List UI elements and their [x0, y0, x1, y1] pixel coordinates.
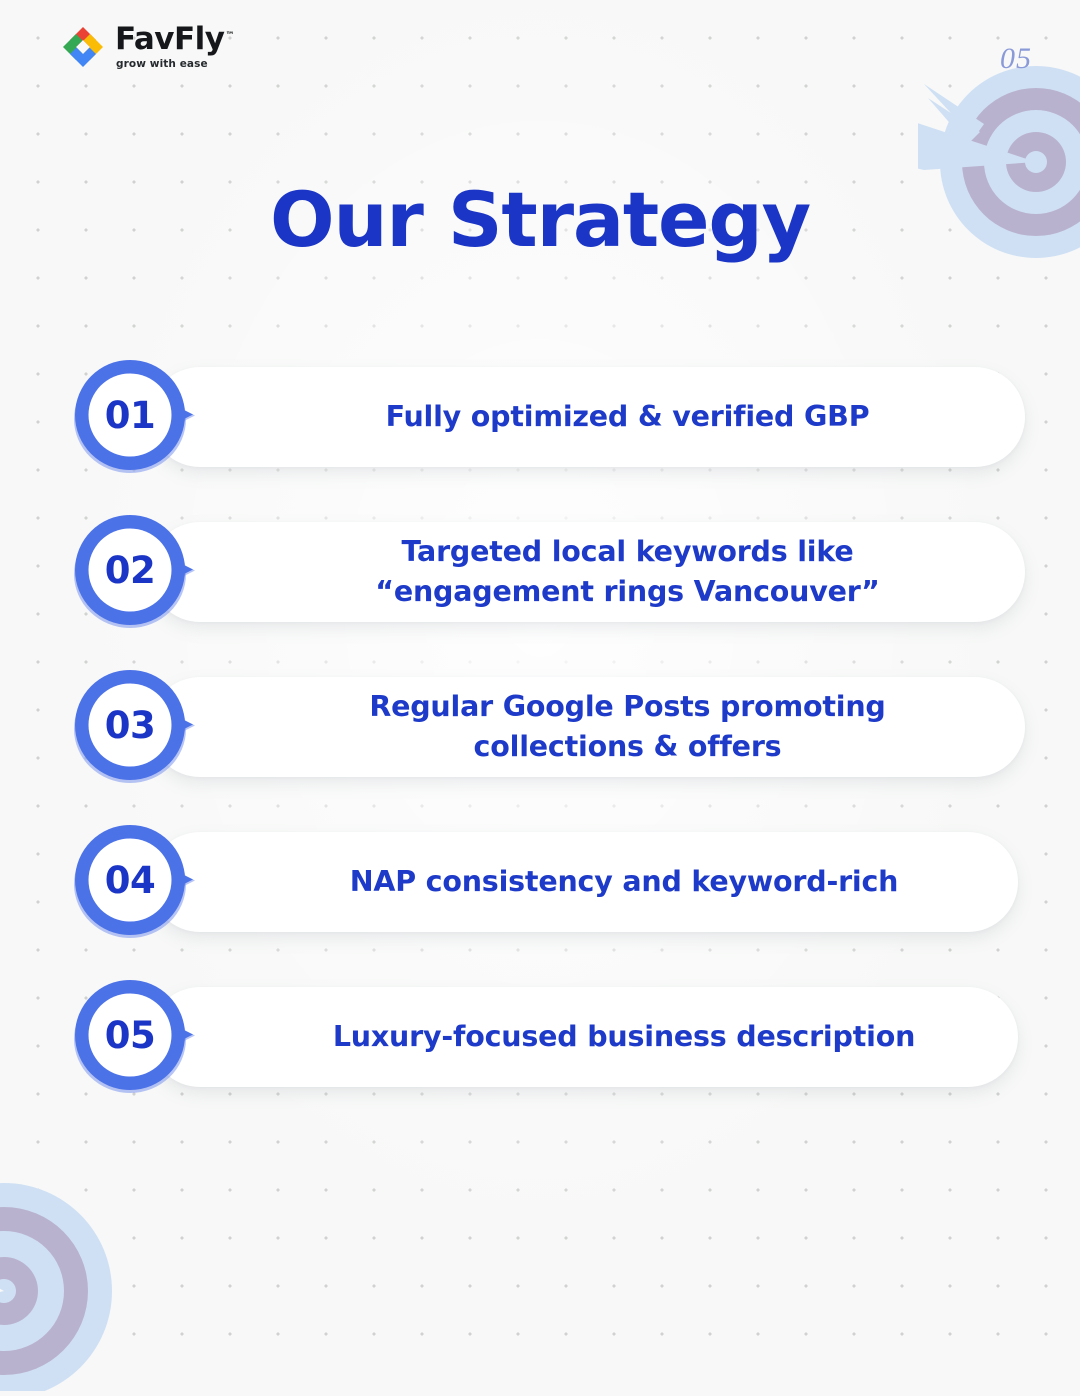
trademark-symbol: ™	[226, 31, 235, 41]
list-item[interactable]: Luxury-focused business description 05	[0, 977, 1080, 1093]
strategy-card-text: Regular Google Posts promoting collectio…	[369, 687, 885, 768]
brand-name-text: FavFly	[115, 21, 225, 57]
step-badge[interactable]: 05	[72, 977, 195, 1093]
step-badge[interactable]: 03	[72, 667, 195, 783]
strategy-card[interactable]: Luxury-focused business description	[150, 987, 1018, 1087]
strategy-card-text: Luxury-focused business description	[333, 1017, 915, 1057]
brand-logo[interactable]: FavFly™ grow with ease	[60, 24, 234, 70]
list-item[interactable]: Regular Google Posts promoting collectio…	[0, 667, 1080, 783]
strategy-list: Fully optimized & verified GBP 01 Target…	[0, 357, 1080, 1093]
list-item[interactable]: NAP consistency and keyword-rich 04	[0, 822, 1080, 938]
strategy-card[interactable]: Regular Google Posts promoting collectio…	[150, 677, 1025, 777]
step-badge[interactable]: 01	[72, 357, 195, 473]
page-title: Our Strategy	[0, 182, 1080, 258]
brand-tagline: grow with ease	[116, 58, 208, 70]
strategy-card[interactable]: NAP consistency and keyword-rich	[150, 832, 1018, 932]
strategy-card[interactable]: Targeted local keywords like “engagement…	[150, 522, 1025, 622]
list-item[interactable]: Targeted local keywords like “engagement…	[0, 512, 1080, 628]
strategy-card[interactable]: Fully optimized & verified GBP	[150, 367, 1025, 467]
step-badge[interactable]: 04	[72, 822, 195, 938]
favfly-diamond-icon	[60, 24, 106, 70]
step-badge[interactable]: 02	[72, 512, 195, 628]
page-number: 05	[1000, 42, 1032, 76]
strategy-card-text: Fully optimized & verified GBP	[386, 397, 870, 437]
list-item[interactable]: Fully optimized & verified GBP 01	[0, 357, 1080, 473]
strategy-card-text: Targeted local keywords like “engagement…	[375, 532, 879, 613]
strategy-card-text: NAP consistency and keyword-rich	[350, 862, 899, 902]
brand-name: FavFly™	[115, 24, 234, 55]
